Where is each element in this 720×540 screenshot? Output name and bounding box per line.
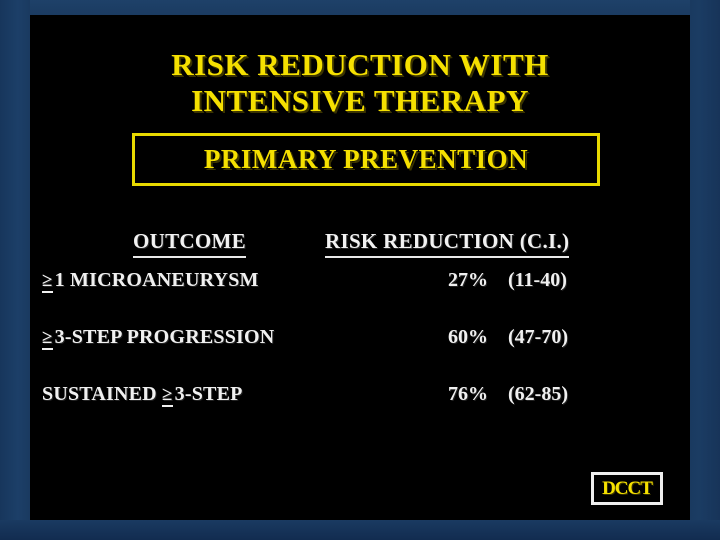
greater-equal-icon: ≥ [42, 272, 53, 293]
subtitle-text: PRIMARY PREVENTION [204, 144, 528, 175]
study-logo-badge: DCCT [591, 472, 663, 505]
column-header-risk-reduction: RISK REDUCTION (C.I.) [325, 229, 569, 258]
study-logo-text: DCCT [602, 478, 652, 500]
column-header-outcome: OUTCOME [133, 229, 246, 258]
slide-root: RISK REDUCTION WITH INTENSIVE THERAPY PR… [0, 0, 720, 540]
frame-border-bottom [0, 520, 720, 540]
title-line-1: RISK REDUCTION WITH [30, 47, 690, 83]
frame-border-left [0, 0, 30, 540]
cell-outcome-prefix: SUSTAINED [42, 383, 157, 405]
slide-title: RISK REDUCTION WITH INTENSIVE THERAPY [30, 47, 690, 119]
cell-outcome: ≥1 MICROANEURYSM [42, 269, 259, 293]
cell-outcome: SUSTAINED ≥3-STEP [42, 383, 243, 407]
frame-border-right [690, 0, 720, 540]
table-row: ≥1 MICROANEURYSM 27% (11-40) [30, 265, 690, 322]
cell-outcome-label: 3-STEP PROGRESSION [55, 326, 275, 348]
cell-confidence-interval: (11-40) [508, 269, 567, 292]
frame-border-top [0, 0, 720, 15]
title-line-2: INTENSIVE THERAPY [30, 83, 690, 119]
cell-percent: 76% [422, 383, 488, 406]
table-row: SUSTAINED ≥3-STEP 76% (62-85) [30, 379, 690, 436]
subtitle-banner: PRIMARY PREVENTION [132, 133, 600, 186]
greater-equal-icon: ≥ [162, 386, 173, 407]
cell-outcome-label: 3-STEP [175, 383, 243, 405]
cell-percent: 60% [422, 326, 488, 349]
results-table: OUTCOME RISK REDUCTION (C.I.) ≥1 MICROAN… [30, 223, 690, 436]
greater-equal-icon: ≥ [42, 329, 53, 350]
cell-confidence-interval: (47-70) [508, 326, 568, 349]
slide-content-area: RISK REDUCTION WITH INTENSIVE THERAPY PR… [30, 15, 690, 520]
table-row: ≥3-STEP PROGRESSION 60% (47-70) [30, 322, 690, 379]
cell-confidence-interval: (62-85) [508, 383, 568, 406]
cell-outcome-label: 1 MICROANEURYSM [55, 269, 259, 291]
cell-percent: 27% [422, 269, 488, 292]
table-header-row: OUTCOME RISK REDUCTION (C.I.) [30, 223, 690, 265]
cell-outcome: ≥3-STEP PROGRESSION [42, 326, 274, 350]
